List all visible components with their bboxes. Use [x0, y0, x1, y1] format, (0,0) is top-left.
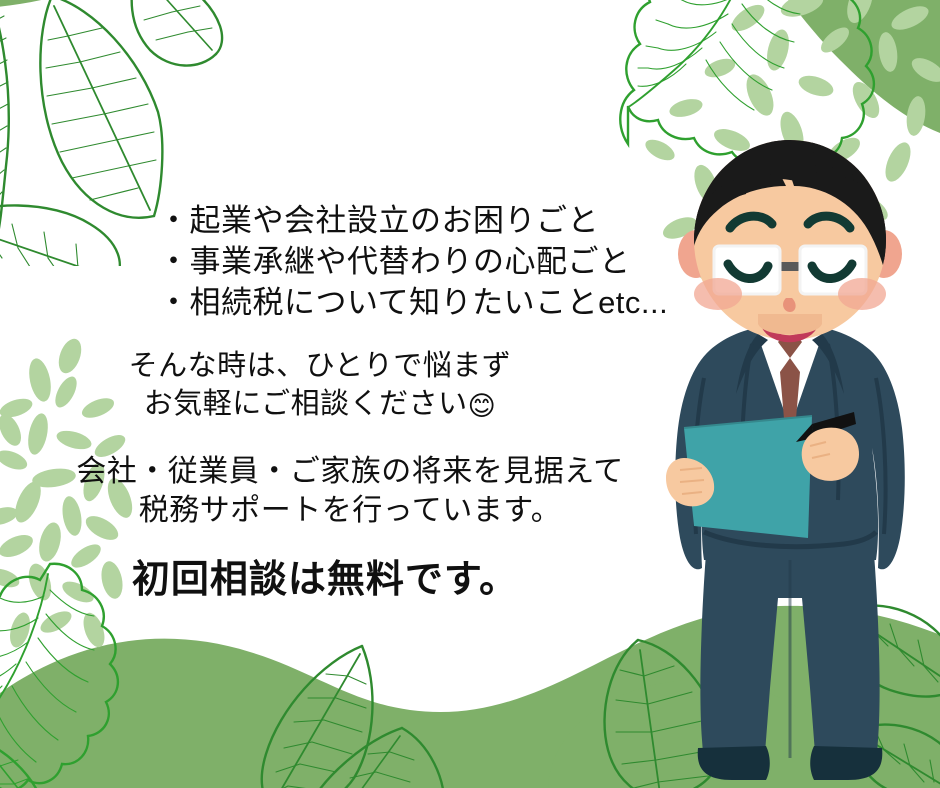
bullet-list: ・起業や会社設立のお困りごと ・事業承継や代替わりの心配ごと ・相続税について知… — [158, 200, 668, 323]
glasses — [714, 246, 866, 294]
free-consultation-headline: 初回相談は無料です。 — [0, 556, 650, 604]
shoes — [698, 746, 883, 780]
service-stanza: 会社・従業員・ご家族の将来を見据えて 税務サポートを行っています。 — [0, 452, 700, 530]
smiling-face-emoji: 😊 — [468, 391, 497, 421]
bullet-item-3: ・相続税について知りたいことetc... — [158, 282, 668, 323]
bullet-item-2: ・事業承継や代替わりの心配ごと — [158, 241, 668, 282]
bullet-item-1: ・起業や会社設立のお困りごと — [158, 200, 668, 241]
cheeks — [694, 278, 886, 310]
eyebrows — [730, 216, 850, 228]
eyes — [728, 264, 852, 279]
mouth — [764, 322, 816, 339]
right-hand — [802, 428, 859, 481]
poster-canvas: ・起業や会社設立のお困りごと ・事業承継や代替わりの心配ごと ・相続税について知… — [0, 0, 940, 788]
face — [694, 140, 886, 340]
trousers — [700, 528, 879, 766]
copy-block: ・起業や会社設立のお困りごと ・事業承継や代替わりの心配ごと ・相続税について知… — [0, 0, 720, 788]
service-line-1: 会社・従業員・ご家族の将来を見据えて — [0, 452, 700, 491]
invitation-line-1: そんな時は、ひとりで悩まず — [0, 347, 640, 385]
neck — [758, 314, 822, 335]
nose — [783, 298, 796, 312]
service-line-2: 税務サポートを行っています。 — [0, 491, 700, 530]
invitation-line-2-text: お気軽にご相談ください — [144, 388, 468, 420]
invitation-line-2: お気軽にご相談ください😊 — [0, 385, 640, 425]
pen — [796, 412, 856, 442]
invitation-stanza: そんな時は、ひとりで悩まず お気軽にご相談ください😊 — [0, 347, 640, 425]
